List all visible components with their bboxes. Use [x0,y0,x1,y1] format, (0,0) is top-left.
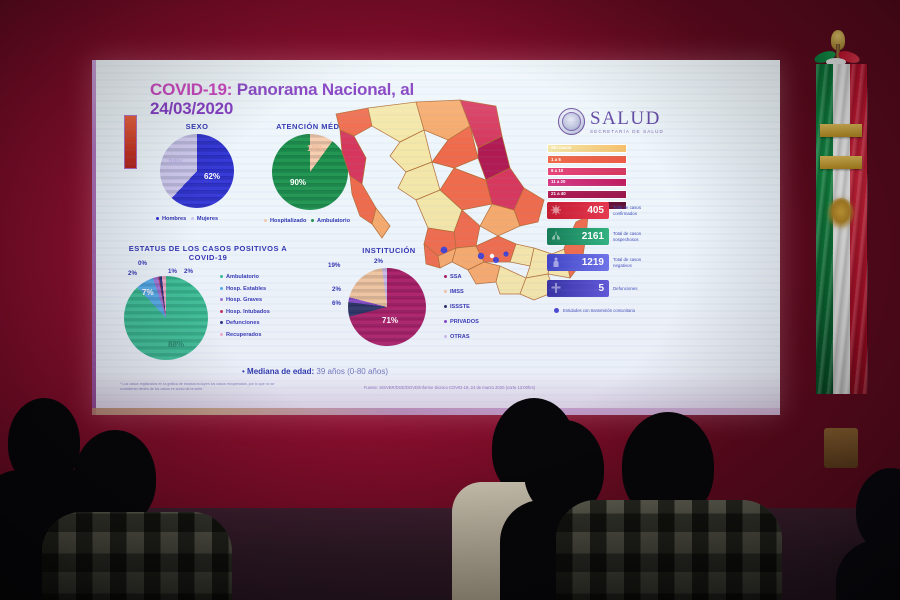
flag-drape [816,64,868,394]
audience-body-5-plaid [556,500,782,600]
slide-footnote: * Los casos registrados en la gráfica de… [120,382,285,392]
stat-defunciones: 5 Defunciones [547,280,655,297]
median-age-line: • Mediana de edad: 39 años (0-80 años) [242,367,388,376]
projection-screen: COVID-19: Panorama Nacional, al 24/03/20… [92,60,780,415]
stat-negativos: 1219 Total de casos negativos [547,254,655,271]
press-conference-scene: COVID-19: Panorama Nacional, al 24/03/20… [0,0,900,600]
map-marker-legend: Entidades con transmisión comunitaria [554,308,635,313]
pie-label-estatus-ambulatorio: 88% [168,340,184,349]
legend-estatus: Ambulatorio Hosp. Estables Hosp. Graves … [220,274,270,338]
flag-white-band [833,64,850,394]
lungs-icon [550,230,562,242]
stat-sospechosos: 2161 Total de casos sospechosos [547,228,655,245]
legend-sexo: Hombres Mujeres [156,216,218,222]
salud-subtitle: SECRETARÍA DE SALUD [590,130,664,135]
cross-icon [550,282,562,294]
slide-title-highlight: COVID-19: [150,80,232,99]
pie-label-sexo-hombres: 62% [204,172,220,181]
pie-chart-estatus [124,276,208,360]
chart-title-sexo: SEXO [152,122,242,131]
decorative-red-bar [124,115,137,169]
pie-label-estatus-recuperados: 2% [184,268,193,275]
slide-title-date: 24/03/2020 [150,99,233,118]
golden-eagle-emblem-icon [828,198,854,228]
pie-label-estatus-graves: 2% [128,270,137,277]
pie-label-ambulatorio: 90% [290,178,306,187]
audience-body-2-plaid [42,512,232,600]
pie-label-estatus-hosp-estables: 7% [142,288,154,297]
flag-red-band [850,64,867,394]
mexico-map [320,96,588,346]
mexican-flag [806,30,876,460]
salud-wordmark: SALUD [590,109,664,128]
flag-gold-cuff-lower [820,156,862,169]
flag-stand [824,428,858,468]
screen-left-edge [92,60,96,415]
marker-dot-icon [554,308,559,313]
flag-gold-cuff-upper [820,124,862,137]
flag-green-band [816,64,833,394]
virus-icon [550,204,562,216]
pie-label-estatus-defunciones: 1% [168,268,177,275]
stat-confirmados: 405 Total de casos confirmados [547,202,655,219]
slide-source: Fuente: SISVER/DGE/DGVD/Informe técnico … [342,385,557,391]
person-icon [550,256,562,268]
pie-label-estatus-intubados: 0% [138,260,147,267]
pie-label-sexo-mujeres: 38% [168,158,184,167]
pie-chart-sexo [160,134,234,208]
